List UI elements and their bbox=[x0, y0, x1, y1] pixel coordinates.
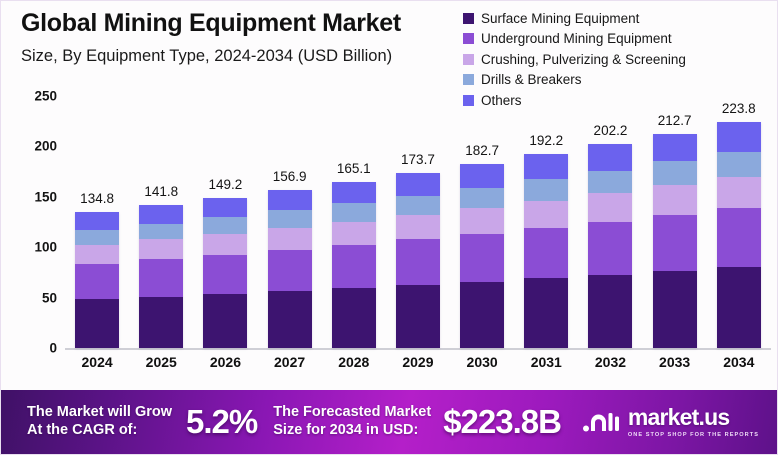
bar-column[interactable]: 149.2 bbox=[203, 96, 247, 348]
forecast-value: $223.8B bbox=[443, 403, 561, 441]
forecast-caption-line1: The Forecasted Market bbox=[273, 404, 431, 422]
x-axis-tick: 2030 bbox=[460, 354, 504, 370]
x-axis-tick: 2031 bbox=[524, 354, 568, 370]
bar-segment[interactable] bbox=[717, 152, 761, 177]
x-axis-tick: 2028 bbox=[332, 354, 376, 370]
x-axis: 2024202520262027202820292030203120322033… bbox=[65, 354, 771, 370]
x-axis-tick: 2033 bbox=[653, 354, 697, 370]
cagr-caption-line1: The Market will Grow bbox=[27, 404, 172, 422]
bar-segment[interactable] bbox=[268, 190, 312, 210]
x-axis-tick: 2026 bbox=[203, 354, 247, 370]
bar-segment[interactable] bbox=[588, 171, 632, 193]
y-axis-tick: 250 bbox=[34, 89, 57, 104]
bar-segment[interactable] bbox=[75, 264, 119, 299]
bar-segment[interactable] bbox=[717, 208, 761, 267]
bar-segment[interactable] bbox=[332, 288, 376, 348]
bar-column[interactable]: 192.2 bbox=[524, 96, 568, 348]
bar-segment[interactable] bbox=[653, 271, 697, 348]
bar-segment[interactable] bbox=[524, 154, 568, 179]
bar-segment[interactable] bbox=[268, 291, 312, 348]
bar-stack[interactable] bbox=[139, 205, 183, 348]
bar-segment[interactable] bbox=[396, 173, 440, 196]
legend-swatch-icon bbox=[463, 13, 474, 24]
bar-total-label: 165.1 bbox=[337, 161, 371, 176]
bar-segment[interactable] bbox=[396, 285, 440, 348]
bar-segment[interactable] bbox=[75, 299, 119, 348]
logo-tagline: ONE STOP SHOP FOR THE REPORTS bbox=[628, 432, 759, 438]
bar-segment[interactable] bbox=[588, 144, 632, 171]
bar-segment[interactable] bbox=[396, 239, 440, 285]
legend-item[interactable]: Drills & Breakers bbox=[463, 70, 773, 91]
summary-banner: The Market will Grow At the CAGR of: 5.2… bbox=[1, 390, 778, 454]
cagr-value: 5.2% bbox=[186, 403, 257, 441]
bar-segment[interactable] bbox=[717, 122, 761, 151]
bar-column[interactable]: 141.8 bbox=[139, 96, 183, 348]
cagr-caption-line2: At the CAGR of: bbox=[27, 422, 172, 440]
bar-stack[interactable] bbox=[460, 164, 504, 348]
x-axis-tick: 2027 bbox=[268, 354, 312, 370]
bar-segment[interactable] bbox=[268, 228, 312, 250]
legend-item[interactable]: Underground Mining Equipment bbox=[463, 29, 773, 50]
bar-segment[interactable] bbox=[332, 245, 376, 288]
bar-segment[interactable] bbox=[524, 228, 568, 278]
x-axis-tick: 2034 bbox=[717, 354, 761, 370]
bar-total-label: 156.9 bbox=[273, 169, 307, 184]
y-axis-tick: 200 bbox=[34, 139, 57, 154]
bar-segment[interactable] bbox=[396, 196, 440, 215]
bar-segment[interactable] bbox=[139, 205, 183, 224]
bar-segment[interactable] bbox=[203, 255, 247, 294]
bar-total-label: 173.7 bbox=[401, 152, 435, 167]
bar-segment[interactable] bbox=[268, 250, 312, 291]
y-axis-tick: 150 bbox=[34, 189, 57, 204]
bar-stack[interactable] bbox=[75, 212, 119, 348]
y-axis-tick: 50 bbox=[42, 290, 57, 305]
forecast-caption: The Forecasted Market Size for 2034 in U… bbox=[273, 404, 431, 439]
bar-segment[interactable] bbox=[460, 282, 504, 348]
bar-segment[interactable] bbox=[139, 259, 183, 296]
legend-swatch-icon bbox=[463, 33, 474, 44]
bar-segment[interactable] bbox=[139, 239, 183, 259]
bar-column[interactable]: 173.7 bbox=[396, 96, 440, 348]
cagr-caption: The Market will Grow At the CAGR of: bbox=[27, 404, 172, 439]
bar-segment[interactable] bbox=[460, 234, 504, 282]
bar-segment[interactable] bbox=[332, 182, 376, 204]
market-us-logo-icon bbox=[581, 409, 621, 436]
bar-stack[interactable] bbox=[524, 154, 568, 348]
bar-column[interactable]: 165.1 bbox=[332, 96, 376, 348]
bar-segment[interactable] bbox=[588, 275, 632, 348]
legend-item-label: Drills & Breakers bbox=[481, 72, 582, 87]
bar-column[interactable]: 156.9 bbox=[268, 96, 312, 348]
bar-column[interactable]: 223.8 bbox=[717, 96, 761, 348]
legend-swatch-icon bbox=[463, 54, 474, 65]
legend-item[interactable]: Surface Mining Equipment bbox=[463, 8, 773, 29]
bar-total-label: 141.8 bbox=[144, 184, 178, 199]
legend-item-label: Surface Mining Equipment bbox=[481, 11, 639, 26]
bar-segment[interactable] bbox=[653, 215, 697, 271]
bar-segment[interactable] bbox=[203, 198, 247, 218]
bar-total-label: 223.8 bbox=[722, 101, 756, 116]
bar-segment[interactable] bbox=[460, 208, 504, 234]
bar-stack[interactable] bbox=[268, 190, 312, 348]
bar-segment[interactable] bbox=[139, 224, 183, 240]
bar-total-label: 202.2 bbox=[594, 123, 628, 138]
y-axis: 050100150200250 bbox=[19, 96, 61, 348]
bar-total-label: 212.7 bbox=[658, 113, 692, 128]
bar-stack[interactable] bbox=[396, 173, 440, 348]
bar-stack[interactable] bbox=[332, 182, 376, 348]
bar-segment[interactable] bbox=[524, 179, 568, 200]
chart-header: Global Mining Equipment Market Size, By … bbox=[21, 9, 471, 66]
page-title: Global Mining Equipment Market bbox=[21, 9, 471, 38]
legend-item-label: Crushing, Pulverizing & Screening bbox=[481, 52, 686, 67]
bar-segment[interactable] bbox=[588, 193, 632, 222]
chart-page: Global Mining Equipment Market Size, By … bbox=[0, 0, 778, 455]
x-axis-tick: 2029 bbox=[396, 354, 440, 370]
bar-stack[interactable] bbox=[653, 134, 697, 348]
bar-segment[interactable] bbox=[396, 215, 440, 239]
bar-column[interactable]: 182.7 bbox=[460, 96, 504, 348]
bar-segment[interactable] bbox=[588, 222, 632, 275]
bar-segment[interactable] bbox=[524, 201, 568, 228]
bar-stack[interactable] bbox=[717, 122, 761, 348]
y-axis-tick: 0 bbox=[49, 341, 57, 356]
bar-segment[interactable] bbox=[717, 177, 761, 209]
bar-segment[interactable] bbox=[717, 267, 761, 348]
legend-item[interactable]: Crushing, Pulverizing & Screening bbox=[463, 49, 773, 70]
bar-total-label: 149.2 bbox=[209, 177, 243, 192]
forecast-caption-line2: Size for 2034 in USD: bbox=[273, 422, 431, 440]
bar-segment[interactable] bbox=[653, 161, 697, 185]
x-axis-tick: 2024 bbox=[75, 354, 119, 370]
legend-swatch-icon bbox=[463, 74, 474, 85]
chart-subtitle: Size, By Equipment Type, 2024-2034 (USD … bbox=[21, 47, 471, 66]
bar-segment[interactable] bbox=[268, 210, 312, 227]
x-axis-tick: 2032 bbox=[588, 354, 632, 370]
bar-segment[interactable] bbox=[332, 203, 376, 221]
logo-name: market.us bbox=[628, 406, 759, 429]
bar-segment[interactable] bbox=[524, 278, 568, 348]
bar-segment[interactable] bbox=[75, 245, 119, 264]
bar-segment[interactable] bbox=[139, 297, 183, 348]
bar-column[interactable]: 202.2 bbox=[588, 96, 632, 348]
bar-segment[interactable] bbox=[75, 230, 119, 245]
bar-column[interactable]: 134.8 bbox=[75, 96, 119, 348]
bar-column[interactable]: 212.7 bbox=[653, 96, 697, 348]
x-axis-line bbox=[65, 348, 771, 350]
bar-segment[interactable] bbox=[460, 188, 504, 208]
bar-segment[interactable] bbox=[203, 234, 247, 255]
bar-segment[interactable] bbox=[75, 212, 119, 230]
bar-stack[interactable] bbox=[203, 198, 247, 348]
bar-segment[interactable] bbox=[203, 294, 247, 348]
market-us-logo-text: market.us ONE STOP SHOP FOR THE REPORTS bbox=[628, 406, 759, 438]
bar-segment[interactable] bbox=[653, 185, 697, 215]
bar-segment[interactable] bbox=[332, 222, 376, 245]
bar-total-label: 192.2 bbox=[529, 133, 563, 148]
bar-total-label: 182.7 bbox=[465, 143, 499, 158]
x-axis-tick: 2025 bbox=[139, 354, 183, 370]
bar-stack[interactable] bbox=[588, 144, 632, 348]
y-axis-tick: 100 bbox=[34, 240, 57, 255]
legend-item-label: Underground Mining Equipment bbox=[481, 31, 672, 46]
bar-segment[interactable] bbox=[460, 164, 504, 188]
bar-segment[interactable] bbox=[203, 217, 247, 234]
market-us-logo[interactable]: market.us ONE STOP SHOP FOR THE REPORTS bbox=[581, 406, 759, 438]
bar-segment[interactable] bbox=[653, 134, 697, 162]
bar-total-label: 134.8 bbox=[80, 191, 114, 206]
bar-series-container: 134.8141.8149.2156.9165.1173.7182.7192.2… bbox=[65, 96, 771, 348]
plot-area: 050100150200250 134.8141.8149.2156.9165.… bbox=[19, 96, 771, 381]
